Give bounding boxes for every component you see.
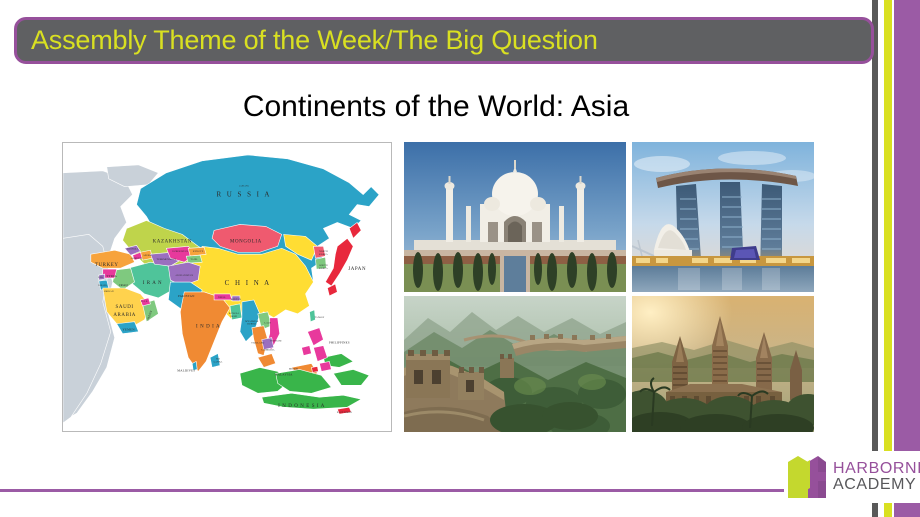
svg-text:R U S S I A: R U S S I A bbox=[216, 191, 271, 199]
bottom-divider bbox=[0, 489, 790, 492]
svg-text:JORDAN: JORDAN bbox=[104, 290, 114, 293]
photo-great-wall-svg bbox=[404, 296, 626, 432]
svg-text:(ASIAN): (ASIAN) bbox=[239, 185, 249, 188]
svg-text:BHUTAN: BHUTAN bbox=[231, 298, 241, 301]
svg-text:LANKA: LANKA bbox=[214, 360, 223, 363]
svg-text:TAIWAN: TAIWAN bbox=[315, 316, 325, 319]
svg-text:KOREA: KOREA bbox=[319, 267, 328, 270]
svg-text:CAMBODIA: CAMBODIA bbox=[261, 349, 275, 352]
svg-text:MALAYSIA: MALAYSIA bbox=[275, 372, 293, 376]
svg-text:LEB.: LEB. bbox=[98, 276, 104, 279]
svg-text:KYRGYZ: KYRGYZ bbox=[193, 250, 204, 253]
photo-marina-bay-sands-svg bbox=[632, 142, 814, 292]
svg-text:AZERB.: AZERB. bbox=[143, 254, 152, 257]
title-banner: Assembly Theme of the Week/The Big Quest… bbox=[14, 17, 874, 64]
asia-map-svg: .cl { font-family: "Liberation Serif", s… bbox=[63, 143, 391, 431]
svg-text:MONGOLIA: MONGOLIA bbox=[230, 239, 262, 244]
edge-stripe-purple bbox=[894, 0, 920, 517]
svg-text:I R A N: I R A N bbox=[143, 281, 162, 286]
photo-taj-mahal-svg bbox=[404, 142, 626, 292]
svg-text:KAZAKHSTAN: KAZAKHSTAN bbox=[153, 239, 192, 244]
svg-text:TURKEY: TURKEY bbox=[95, 263, 119, 268]
svg-text:TURKMENISTAN: TURKMENISTAN bbox=[156, 258, 176, 261]
slide-canvas: Assembly Theme of the Week/The Big Quest… bbox=[0, 0, 920, 517]
photo-angkor-wat-svg bbox=[632, 296, 814, 432]
svg-text:JAPAN: JAPAN bbox=[348, 267, 366, 272]
edge-stripe-gray bbox=[872, 0, 878, 517]
svg-text:SYRIA: SYRIA bbox=[106, 274, 117, 278]
svg-text:EAST TIMOR: EAST TIMOR bbox=[337, 411, 352, 414]
svg-text:U.A.E.: U.A.E. bbox=[141, 300, 149, 303]
logo-line-academy: ACADEMY bbox=[833, 477, 920, 493]
svg-text:ISRAEL: ISRAEL bbox=[98, 284, 107, 287]
logo-wordmark: HARBORNE ACADEMY bbox=[833, 461, 920, 494]
svg-text:BRUNEI: BRUNEI bbox=[289, 367, 299, 370]
svg-text:ARMENIA: ARMENIA bbox=[131, 257, 143, 260]
svg-text:NEPAL: NEPAL bbox=[218, 296, 226, 299]
asia-map-image: .cl { font-family: "Liberation Serif", s… bbox=[62, 142, 392, 432]
logo-line-harborne: HARBORNE bbox=[833, 461, 920, 477]
svg-text:I N D O N E S I A: I N D O N E S I A bbox=[278, 404, 325, 409]
harborne-h-icon bbox=[784, 454, 828, 500]
svg-text:VIETNAM: VIETNAM bbox=[270, 340, 282, 343]
svg-text:PAKISTAN: PAKISTAN bbox=[178, 294, 195, 298]
svg-text:BURMA: BURMA bbox=[247, 323, 256, 326]
svg-text:ARABIA: ARABIA bbox=[113, 313, 136, 318]
svg-text:KOREA: KOREA bbox=[319, 253, 328, 256]
edge-stripe-lime bbox=[884, 0, 892, 517]
svg-text:PHILIPPINES: PHILIPPINES bbox=[329, 341, 350, 345]
harborne-academy-logo: HARBORNE ACADEMY bbox=[784, 451, 920, 503]
photo-taj-mahal bbox=[404, 142, 626, 292]
photo-marina-bay-sands bbox=[632, 142, 814, 292]
svg-text:C H I N A: C H I N A bbox=[225, 279, 271, 287]
svg-text:UZBEKISTAN: UZBEKISTAN bbox=[172, 250, 188, 253]
svg-text:DESH: DESH bbox=[231, 315, 238, 318]
title-banner-text: Assembly Theme of the Week/The Big Quest… bbox=[31, 27, 598, 54]
svg-text:GEORGIA: GEORGIA bbox=[127, 247, 139, 250]
svg-text:LAOS: LAOS bbox=[264, 322, 271, 325]
photo-great-wall bbox=[404, 296, 626, 432]
svg-text:THAILAND: THAILAND bbox=[251, 342, 264, 345]
svg-text:MALDIVES: MALDIVES bbox=[177, 368, 195, 372]
svg-text:AFGHANISTAN: AFGHANISTAN bbox=[175, 274, 193, 277]
svg-text:TAJIK.: TAJIK. bbox=[190, 258, 198, 261]
page-title: Continents of the World: Asia bbox=[0, 90, 872, 124]
photo-angkor-wat bbox=[632, 296, 814, 432]
svg-text:SAUDI: SAUDI bbox=[116, 305, 134, 310]
svg-text:I N D I A: I N D I A bbox=[196, 325, 220, 330]
svg-text:IRAQ: IRAQ bbox=[119, 283, 128, 287]
svg-text:YEMEN: YEMEN bbox=[122, 328, 135, 332]
